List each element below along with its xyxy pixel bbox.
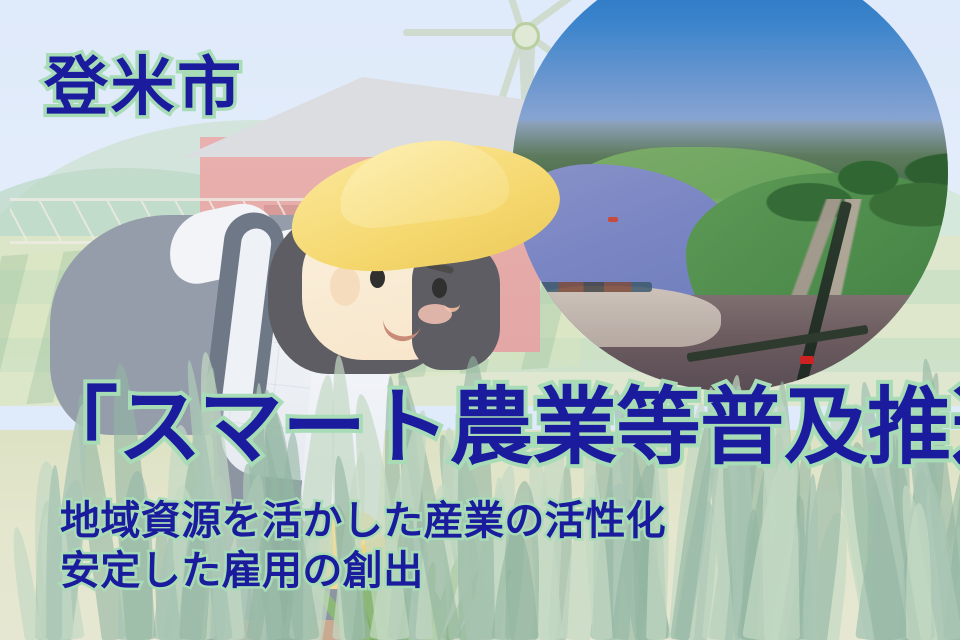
photo-shoreline [512, 286, 721, 347]
poster-canvas: 登米市 「スマート農業等普及推進」 地域資源を活かした産業の活性化 安定した雇用… [0, 0, 960, 640]
aerial-photo-content [512, 0, 948, 391]
city-name-heading: 登米市 [44, 36, 244, 128]
farmer-ear [330, 266, 360, 306]
subtitle-line-2: 安定した雇用の創出 [60, 538, 424, 596]
page-title: 「スマート農業等普及推進」 [34, 360, 960, 481]
farmer-eye [432, 278, 447, 298]
aerial-photo-circle [512, 0, 948, 391]
photo-red-boat [608, 217, 618, 222]
windmill-blade [403, 29, 523, 36]
photo-boats [538, 282, 651, 292]
farmer-cheek-blush [418, 304, 452, 324]
